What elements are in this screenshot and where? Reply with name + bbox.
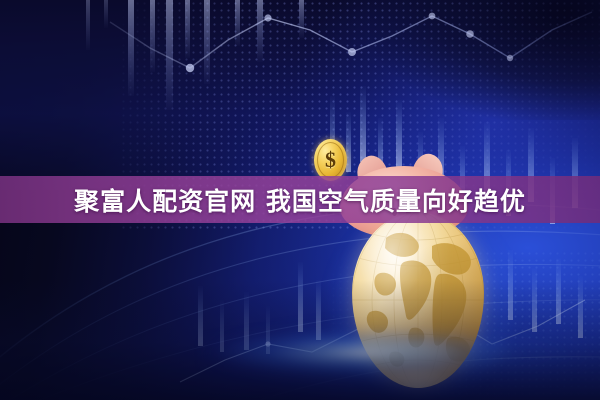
- headline-text: 聚富人配资官网 我国空气质量向好趋优: [74, 182, 526, 218]
- trend-line-top: [110, 12, 592, 72]
- headline-banner: 聚富人配资官网 我国空气质量向好趋优: [0, 176, 600, 223]
- dollar-sign-icon: $: [325, 149, 336, 171]
- gold-coin-rim: $: [317, 142, 344, 178]
- background-bottom-fade: [0, 280, 600, 400]
- gold-coin-icon: $: [314, 139, 347, 181]
- stock-finance-banner: $: [0, 0, 600, 400]
